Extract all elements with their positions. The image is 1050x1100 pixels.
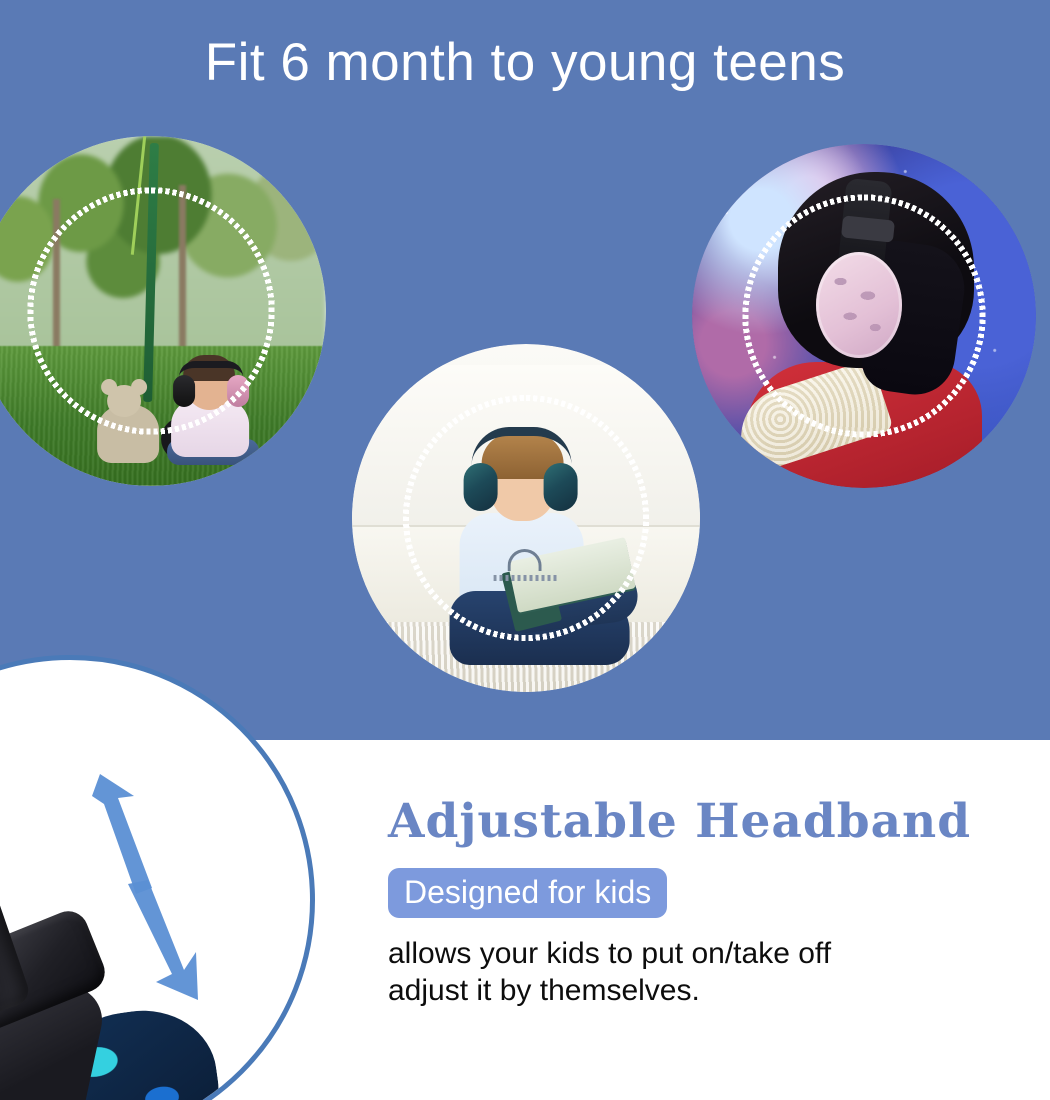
boy-photo-content	[352, 344, 700, 692]
ear-defender-headband	[179, 361, 243, 377]
girl-photo-content	[692, 144, 1036, 488]
feature-text-column: Adjustable Headband Designed for kids al…	[388, 796, 1028, 1010]
adjust-direction-arrow-lower	[122, 878, 222, 1008]
designed-for-kids-badge: Designed for kids	[388, 868, 667, 919]
product-marketing-page: Fit 6 month to young teens	[0, 0, 1050, 1100]
feature-body-line-1: allows your kids to put on/take off	[388, 936, 1028, 973]
gallery-photo-boy-on-sofa	[352, 344, 700, 692]
baby-photo-content	[0, 136, 326, 486]
page-headline: Fit 6 month to young teens	[0, 34, 1050, 91]
ear-defender-cup-right	[544, 463, 578, 511]
boy-figure	[416, 421, 646, 671]
baby-figure	[143, 335, 275, 465]
headband-photo-content	[0, 660, 310, 1100]
feature-body-text: allows your kids to put on/take off adju…	[388, 936, 1028, 1009]
ear-defender-cup-pink	[816, 252, 902, 358]
gallery-photo-girl-in-snow	[692, 144, 1036, 488]
teddy-bear	[97, 405, 159, 463]
feature-photo-adjustable-headband	[0, 655, 315, 1100]
feature-heading: Adjustable Headband	[388, 796, 1028, 848]
tshirt-logo-text	[494, 575, 558, 581]
ear-defender-cup-right	[227, 375, 249, 407]
feature-body-line-2: adjust it by themselves.	[388, 973, 1028, 1010]
ear-defender-cup-left	[173, 375, 195, 407]
ear-defender-cup-left	[464, 463, 498, 511]
park-trees	[0, 136, 326, 360]
ear-defender-headband	[472, 427, 572, 465]
gallery-photo-baby-in-park	[0, 136, 326, 486]
headband-strap	[0, 688, 33, 1038]
